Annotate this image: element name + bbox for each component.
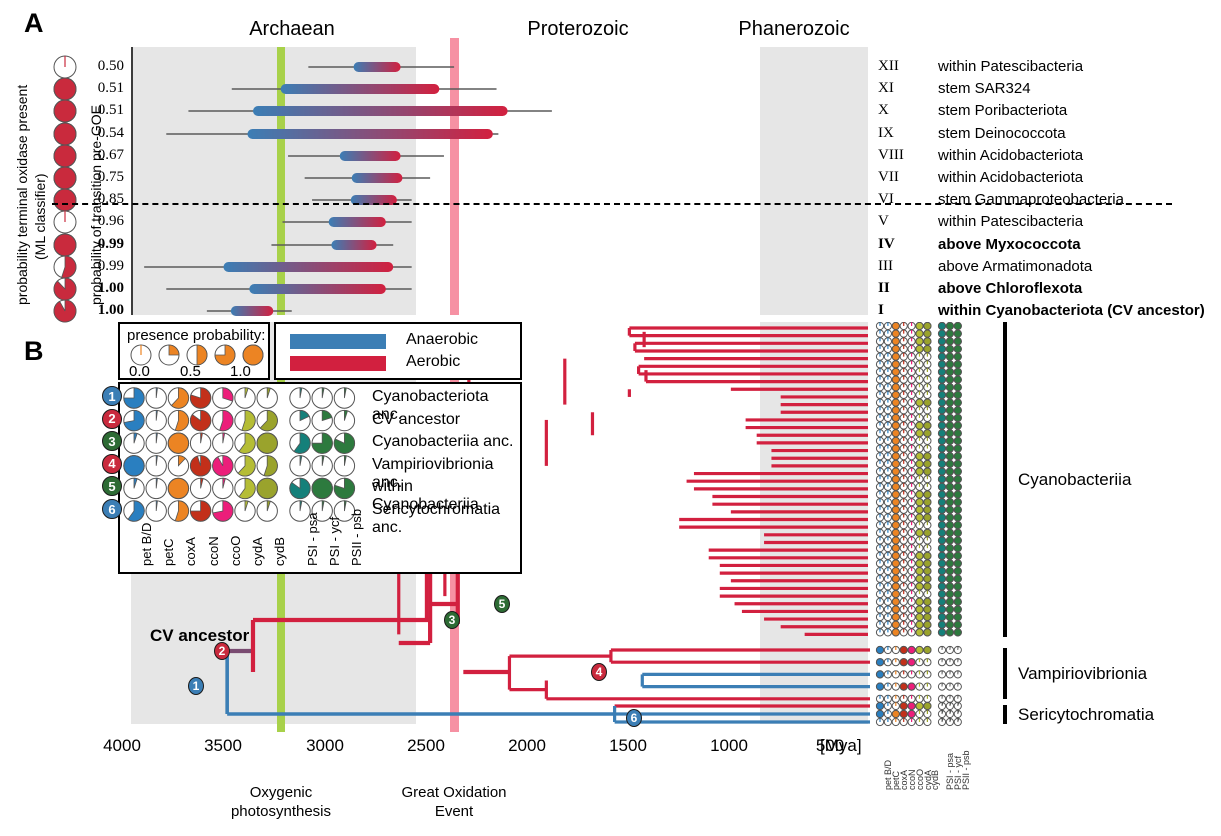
axis-tick-label: 4000 bbox=[92, 736, 152, 756]
presence-legend-mid: 0.5 bbox=[180, 363, 201, 380]
transition-clade-name: within Patescibacteria bbox=[938, 58, 1083, 75]
transition-roman-numeral: IX bbox=[878, 125, 894, 142]
transition-clade-name: above Chloroflexota bbox=[938, 280, 1082, 297]
event-oxygenic-photosynthesis: Oxygenic photosynthesis bbox=[211, 784, 351, 822]
ancestor-column-header: PSI - psa bbox=[305, 513, 320, 566]
oxidase-axis-sublabel: (ML classifier) bbox=[32, 173, 48, 260]
eon-label-proterozoic: Proterozoic bbox=[478, 18, 678, 41]
transition-clade-name: above Myxococcota bbox=[938, 236, 1081, 253]
transition-age-interval bbox=[110, 168, 870, 188]
axis-tick-label: 1000 bbox=[699, 736, 759, 756]
axis-tick-label: 2500 bbox=[396, 736, 456, 756]
ancestor-column-header: pet B/D bbox=[139, 523, 154, 566]
transition-age-interval bbox=[110, 257, 870, 277]
event-line2: photosynthesis bbox=[211, 803, 351, 822]
aerobic-state-legend: Anaerobic Aerobic bbox=[274, 322, 522, 380]
tree-node-marker-4[interactable]: 4 bbox=[591, 663, 607, 681]
ancestor-node-marker-6[interactable]: 6 bbox=[102, 499, 122, 519]
axis-tick-label: 3000 bbox=[295, 736, 355, 756]
ancestor-column-header: cydB bbox=[272, 537, 287, 566]
transition-age-interval bbox=[110, 190, 870, 210]
event-great-oxidation: Great Oxidation Event bbox=[384, 784, 524, 822]
transition-roman-numeral: XI bbox=[878, 80, 894, 97]
clade-label: Cyanobacteriia bbox=[1018, 470, 1131, 490]
panel-a-letter: A bbox=[24, 8, 44, 39]
ancestor-column-header: ccoO bbox=[228, 536, 243, 566]
tree-node-marker-6[interactable]: 6 bbox=[626, 709, 642, 727]
transition-clade-name: above Armatimonadota bbox=[938, 258, 1092, 275]
ancestor-column-header: cydA bbox=[250, 537, 265, 566]
transition-age-interval bbox=[110, 124, 870, 144]
heatmap-column-header: cydB bbox=[930, 770, 940, 790]
panel-b-letter: B bbox=[24, 336, 44, 367]
presence-legend-title: presence probability: bbox=[127, 327, 265, 344]
transition-roman-numeral: VI bbox=[878, 191, 894, 208]
event-line2: Event bbox=[384, 803, 524, 822]
ancestor-node-marker-2[interactable]: 2 bbox=[102, 409, 122, 429]
ancestor-state-table: Cyanobacteriota anc.CV ancestorCyanobact… bbox=[118, 382, 522, 574]
transition-age-interval bbox=[110, 101, 870, 121]
tree-node-marker-2[interactable]: 2 bbox=[214, 642, 230, 660]
transition-age-interval bbox=[110, 235, 870, 255]
transition-age-interval bbox=[110, 279, 870, 299]
axis-unit-label: [Mya] bbox=[820, 736, 862, 756]
ancestor-column-header: PSII - psb bbox=[349, 509, 364, 566]
aerobic-swatch bbox=[290, 356, 386, 371]
transition-roman-numeral: III bbox=[878, 258, 893, 275]
event-line1: Great Oxidation bbox=[384, 784, 524, 803]
eon-label-phanerozoic: Phanerozoic bbox=[694, 18, 894, 41]
transition-clade-name: within Acidobacteriota bbox=[938, 147, 1083, 164]
tree-node-marker-5[interactable]: 5 bbox=[494, 595, 510, 613]
ancestor-column-header: coxA bbox=[183, 537, 198, 566]
transition-roman-numeral: II bbox=[878, 280, 890, 297]
gene-presence-heatmap bbox=[874, 322, 999, 732]
axis-tick-label: 3500 bbox=[193, 736, 253, 756]
transition-roman-numeral: I bbox=[878, 302, 884, 319]
transition-age-interval bbox=[110, 79, 870, 99]
ancestor-row-label: Sericytochromatia anc. bbox=[372, 501, 520, 537]
heatmap-column-header: PSII - psb bbox=[961, 750, 971, 790]
clade-bracket bbox=[1003, 705, 1007, 724]
axis-tick-label: 2000 bbox=[497, 736, 557, 756]
transition-age-interval bbox=[110, 146, 870, 166]
tree-node-marker-3[interactable]: 3 bbox=[444, 611, 460, 629]
transition-clade-name: within Patescibacteria bbox=[938, 213, 1083, 230]
ancestor-column-header: ccoN bbox=[206, 536, 221, 566]
transition-clade-name: within Cyanobacteriota (CV ancestor) bbox=[938, 302, 1205, 319]
ancestor-row-label: CV ancestor bbox=[372, 411, 460, 429]
transition-roman-numeral: XII bbox=[878, 58, 899, 75]
transition-age-interval bbox=[110, 57, 870, 77]
cv-ancestor-annotation: CV ancestor bbox=[150, 626, 249, 646]
clade-label: Vampiriovibrionia bbox=[1018, 664, 1147, 684]
ancestor-node-marker-1[interactable]: 1 bbox=[102, 386, 122, 406]
significance-threshold-line bbox=[52, 203, 1172, 205]
transition-clade-name: stem Gammaproteobacteria bbox=[938, 191, 1124, 208]
transition-roman-numeral: IV bbox=[878, 236, 895, 253]
ancestor-column-header: PSI - ycf bbox=[327, 517, 342, 566]
event-line1: Oxygenic bbox=[211, 784, 351, 803]
transition-roman-numeral: V bbox=[878, 213, 889, 230]
eon-label-archaean: Archaean bbox=[192, 18, 392, 41]
transition-clade-name: stem Poribacteriota bbox=[938, 102, 1067, 119]
transition-age-interval bbox=[110, 212, 870, 232]
oxidase-axis-label: probability terminal oxidase present bbox=[14, 85, 30, 305]
anaerobic-swatch bbox=[290, 334, 386, 349]
transition-roman-numeral: VIII bbox=[878, 147, 904, 164]
transition-clade-name: stem Deinococcota bbox=[938, 125, 1066, 142]
ancestor-node-marker-4[interactable]: 4 bbox=[102, 454, 122, 474]
axis-tick-label: 1500 bbox=[598, 736, 658, 756]
presence-legend-max: 1.0 bbox=[230, 363, 251, 380]
oxidase-probability-pie bbox=[52, 298, 78, 324]
presence-legend-min: 0.0 bbox=[129, 363, 150, 380]
ancestor-row-label: Cyanobacteriia anc. bbox=[372, 433, 513, 451]
transition-age-interval bbox=[110, 301, 870, 321]
transition-clade-name: within Acidobacteriota bbox=[938, 169, 1083, 186]
clade-label: Sericytochromatia bbox=[1018, 705, 1154, 725]
transition-roman-numeral: VII bbox=[878, 169, 899, 186]
clade-bracket bbox=[1003, 322, 1007, 637]
tree-node-marker-1[interactable]: 1 bbox=[188, 677, 204, 695]
aerobic-label: Aerobic bbox=[406, 353, 460, 371]
presence-probability-legend: presence probability: 0.0 0.5 1.0 bbox=[118, 322, 270, 380]
clade-bracket bbox=[1003, 648, 1007, 699]
transition-clade-name: stem SAR324 bbox=[938, 80, 1031, 97]
ancestor-column-header: petC bbox=[161, 539, 176, 566]
anaerobic-label: Anaerobic bbox=[406, 331, 478, 349]
transition-roman-numeral: X bbox=[878, 102, 889, 119]
